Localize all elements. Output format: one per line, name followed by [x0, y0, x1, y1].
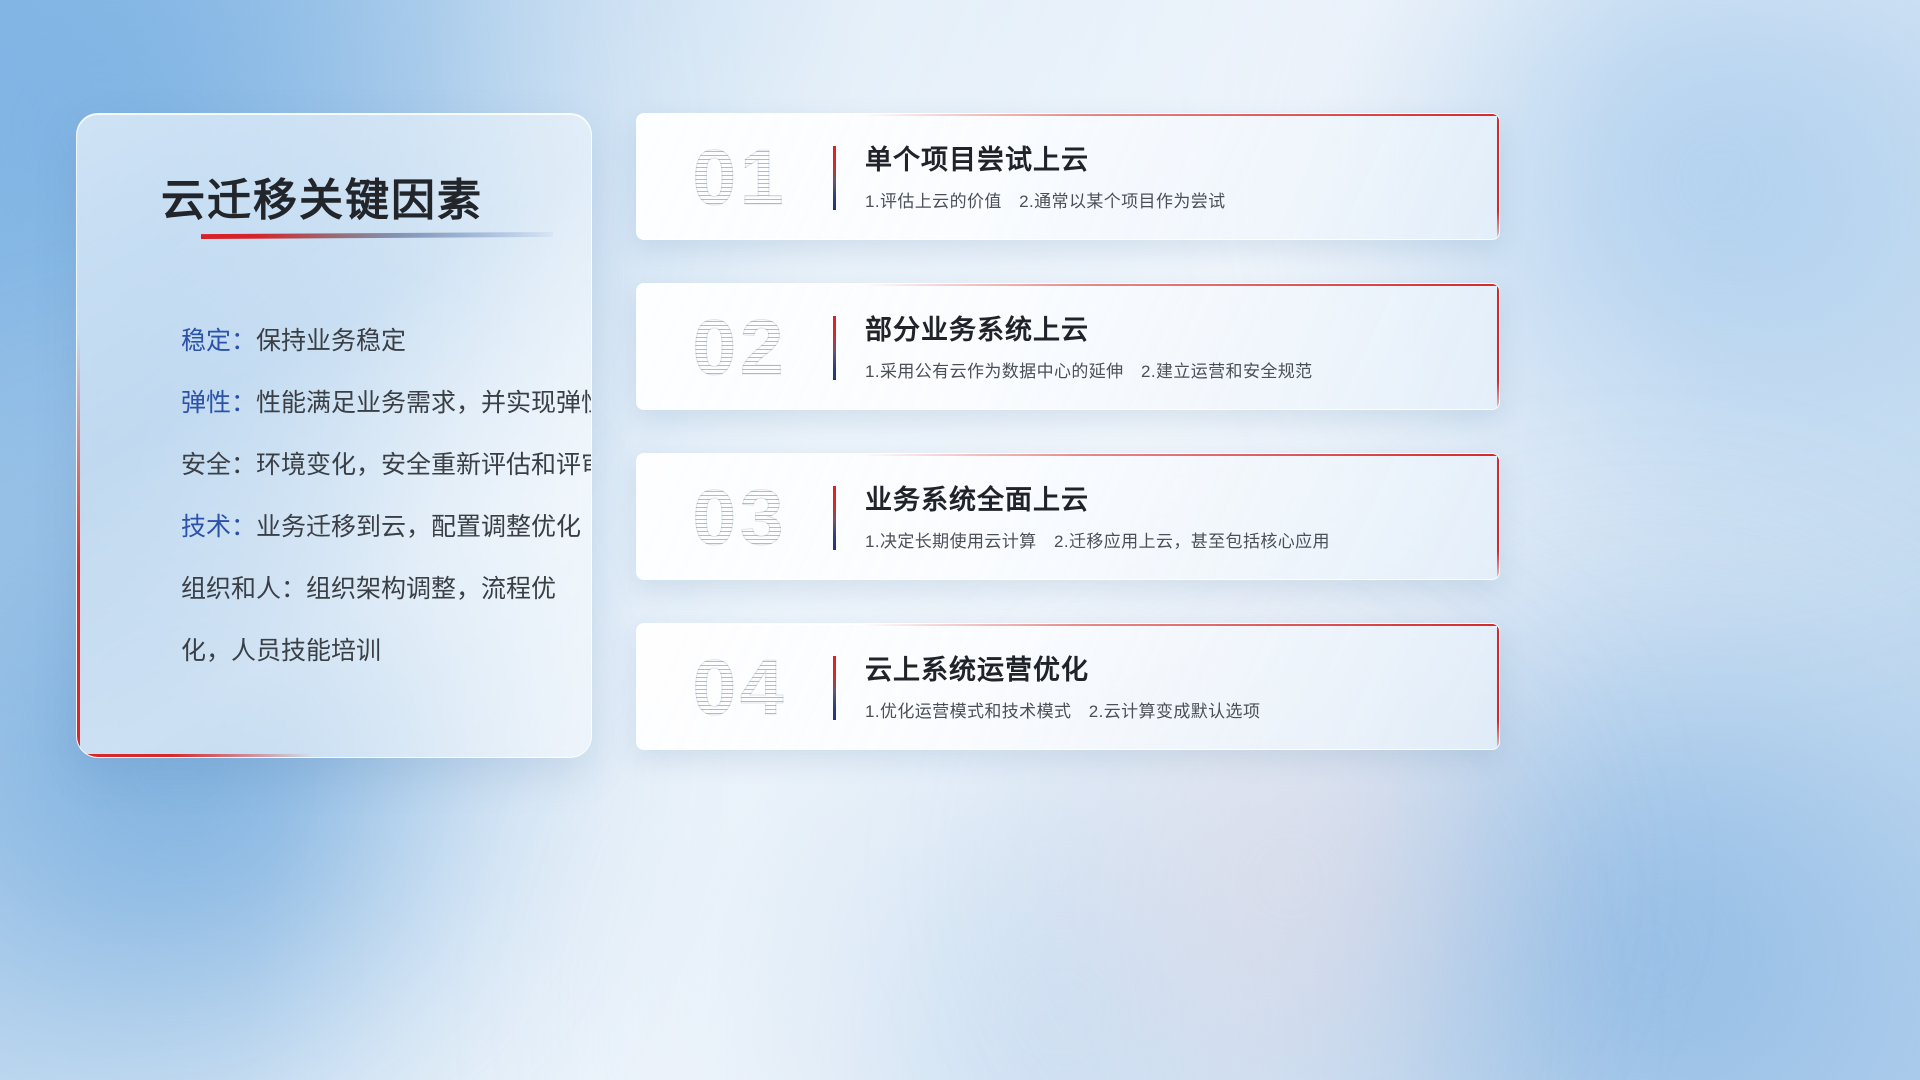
factor-item: 组织和人：组织架构调整，流程优化，人员技能培训 [181, 558, 561, 682]
factor-text: 环境变化，安全重新评估和评审 [256, 451, 592, 479]
stage-title: 业务系统全面上云 [865, 481, 1453, 519]
stage-card[interactable]: 01单个项目尝试上云1.评估上云的价值 2.通常以某个项目作为尝试 [636, 113, 1500, 240]
stage-description: 1.优化运营模式和技术模式 2.云计算变成默认选项 [865, 700, 1453, 724]
stage-title: 部分业务系统上云 [865, 311, 1453, 349]
factor-item: 弹性：性能满足业务需求，并实现弹性 [181, 372, 561, 434]
factor-label: 技术： [181, 513, 256, 541]
factor-item: 稳定：保持业务稳定 [181, 310, 561, 372]
stage-card[interactable]: 04云上系统运营优化1.优化运营模式和技术模式 2.云计算变成默认选项 [636, 623, 1500, 750]
stage-accent-bar [833, 146, 836, 210]
factor-text: 保持业务稳定 [256, 327, 406, 355]
stage-accent-bar [833, 486, 836, 550]
stage-number: 04 [665, 641, 815, 733]
stage-number: 02 [665, 301, 815, 393]
factor-label: 组织和人： [181, 575, 306, 603]
stage-card[interactable]: 03业务系统全面上云1.决定长期使用云计算 2.迁移应用上云，甚至包括核心应用 [636, 453, 1500, 580]
factor-text: 性能满足业务需求，并实现弹性 [256, 389, 592, 417]
stage-card-body: 单个项目尝试上云1.评估上云的价值 2.通常以某个项目作为尝试 [865, 141, 1453, 214]
stage-title: 单个项目尝试上云 [865, 141, 1453, 179]
stage-number: 01 [665, 131, 815, 223]
factor-item: 技术：业务迁移到云，配置调整优化 [181, 496, 561, 558]
stage-card-body: 业务系统全面上云1.决定长期使用云计算 2.迁移应用上云，甚至包括核心应用 [865, 481, 1453, 554]
stage-description: 1.评估上云的价值 2.通常以某个项目作为尝试 [865, 190, 1453, 214]
factor-list: 稳定：保持业务稳定弹性：性能满足业务需求，并实现弹性安全：环境变化，安全重新评估… [181, 310, 561, 682]
migration-stage-card-list: 01单个项目尝试上云1.评估上云的价值 2.通常以某个项目作为尝试02部分业务系… [636, 113, 1500, 793]
stage-description: 1.决定长期使用云计算 2.迁移应用上云，甚至包括核心应用 [865, 530, 1453, 554]
stage-card[interactable]: 02部分业务系统上云1.采用公有云作为数据中心的延伸 2.建立运营和安全规范 [636, 283, 1500, 410]
factor-label: 安全： [181, 451, 256, 479]
stage-card-body: 云上系统运营优化1.优化运营模式和技术模式 2.云计算变成默认选项 [865, 651, 1453, 724]
factor-text: 业务迁移到云，配置调整优化 [256, 513, 581, 541]
stage-card-body: 部分业务系统上云1.采用公有云作为数据中心的延伸 2.建立运营和安全规范 [865, 311, 1453, 384]
key-factors-panel: 云迁移关键因素 稳定：保持业务稳定弹性：性能满足业务需求，并实现弹性安全：环境变… [76, 113, 592, 758]
stage-accent-bar [833, 656, 836, 720]
title-underline-accent [201, 232, 553, 239]
stage-number: 03 [665, 471, 815, 563]
stage-title: 云上系统运营优化 [865, 651, 1453, 689]
factor-label: 弹性： [181, 389, 256, 417]
stage-accent-bar [833, 316, 836, 380]
factor-item: 安全：环境变化，安全重新评估和评审 [181, 434, 561, 496]
page-title: 云迁移关键因素 [161, 164, 483, 228]
factor-label: 稳定： [181, 327, 256, 355]
stage-description: 1.采用公有云作为数据中心的延伸 2.建立运营和安全规范 [865, 360, 1453, 384]
